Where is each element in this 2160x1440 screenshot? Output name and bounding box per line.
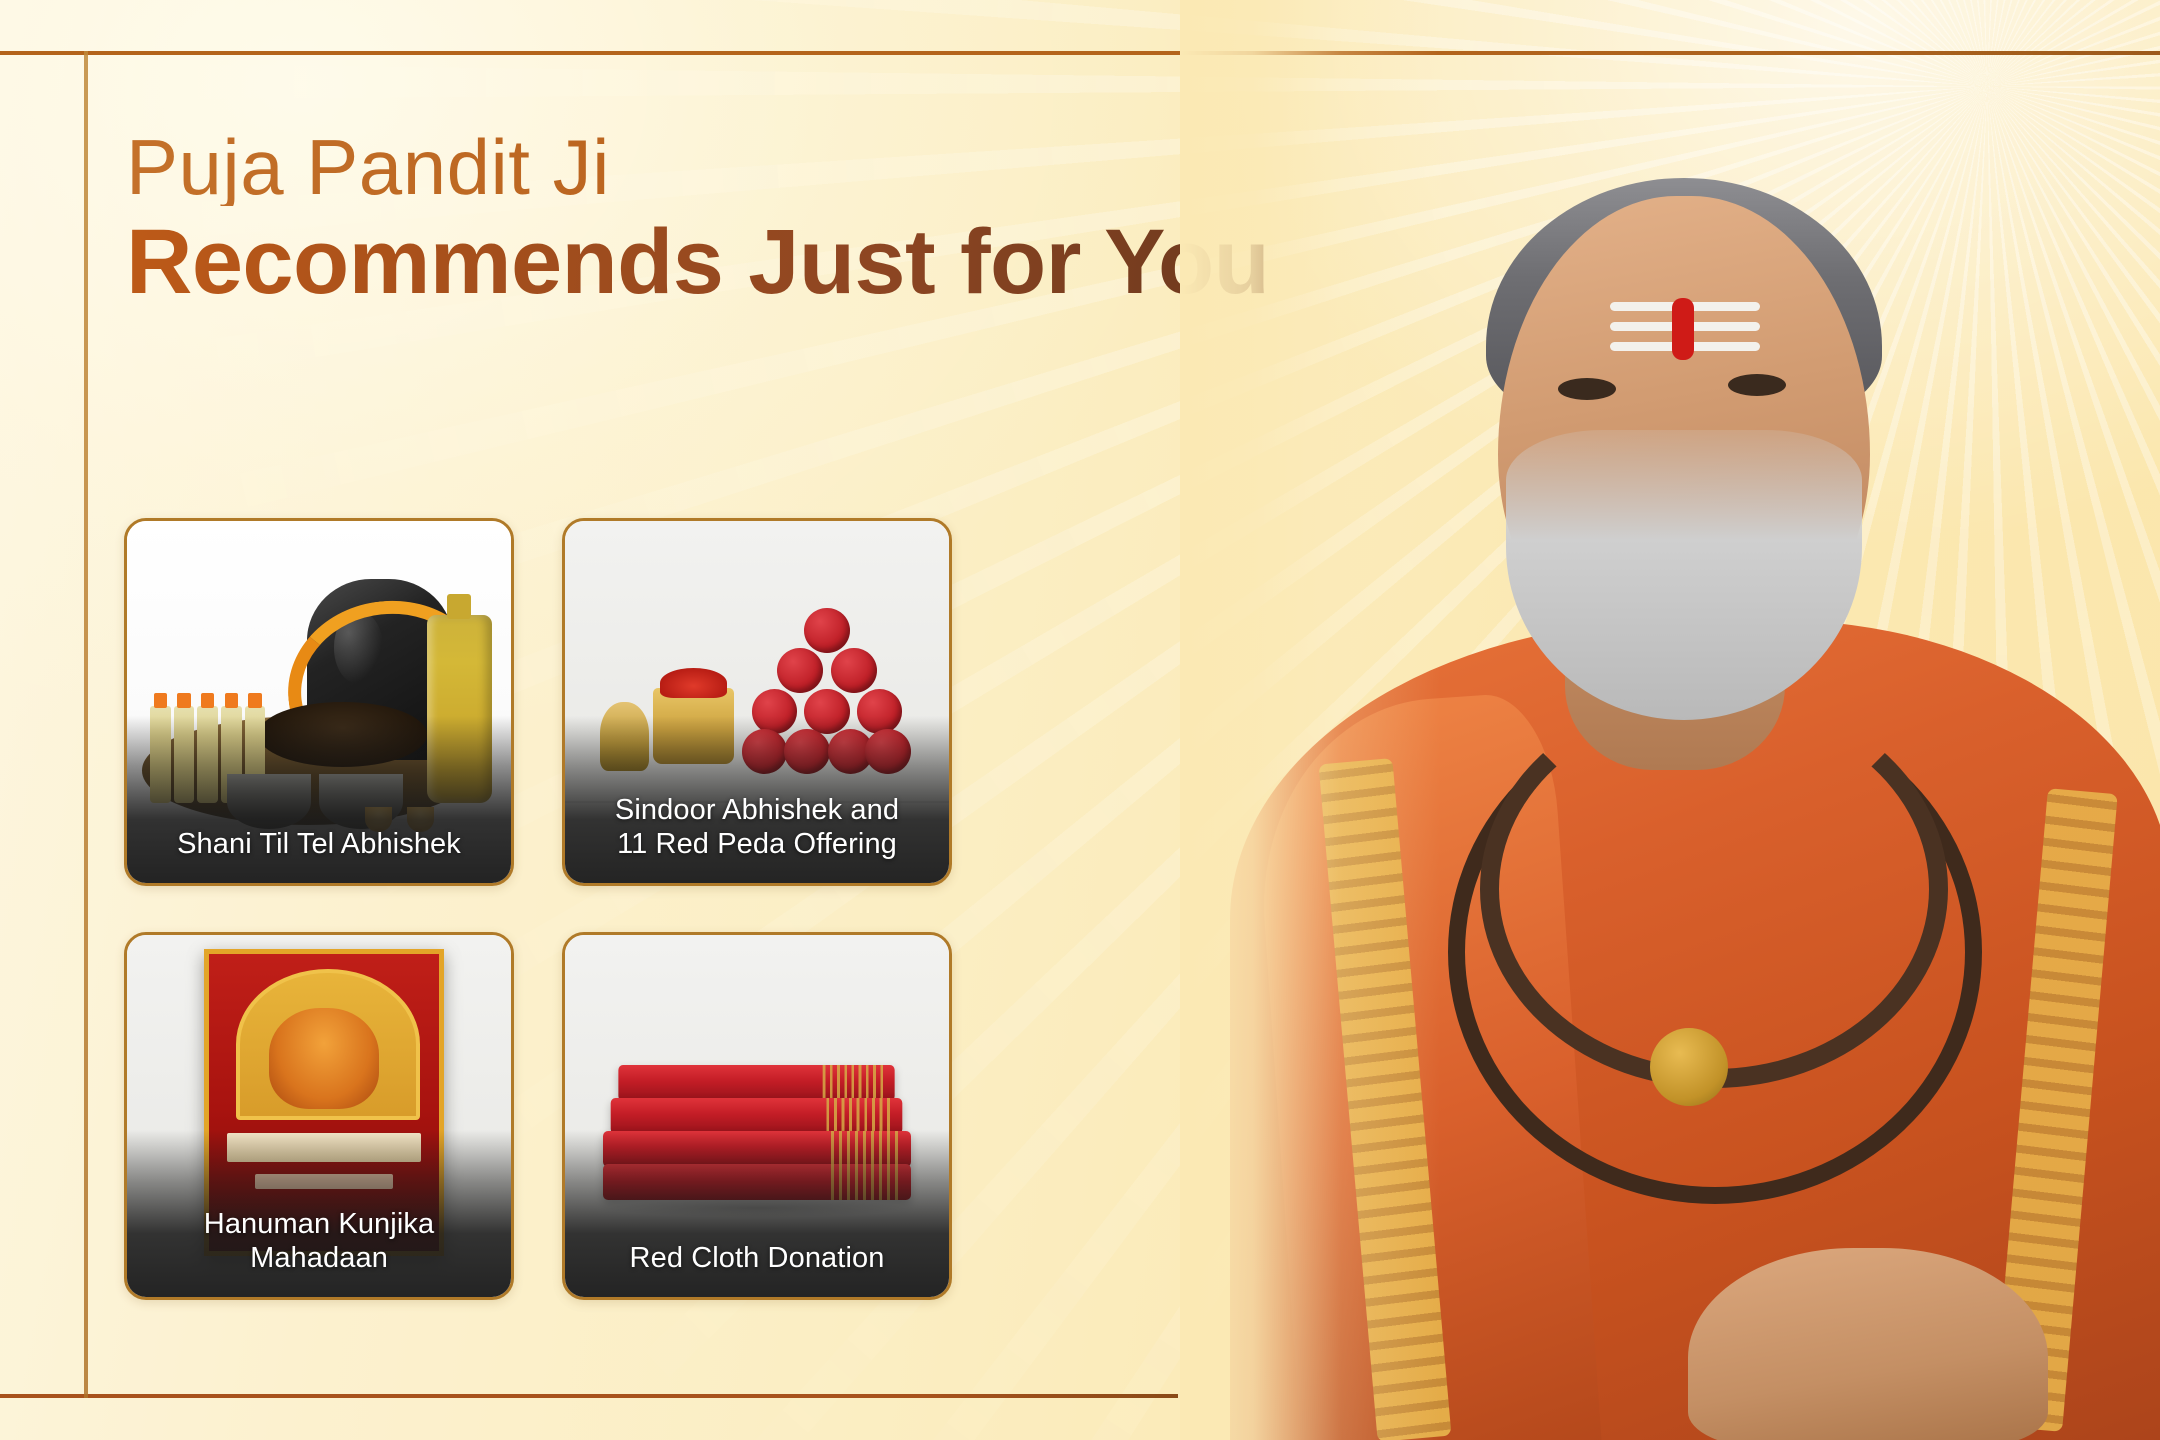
recommendation-card-sindoor-abhishek-11-red-peda[interactable]: Sindoor Abhishek and 11 Red Peda Offerin…: [562, 518, 952, 886]
pandit-bottom-fade: [1180, 1320, 2160, 1440]
pandit-rudraksha-mala-short: [1480, 690, 1948, 1088]
recommendation-card-hanuman-kunjika-mahadaan[interactable]: Hanuman Kunjika Mahadaan: [124, 932, 514, 1300]
pandit-tilak: [1610, 296, 1760, 364]
card-caption-line-2: Mahadaan: [141, 1241, 497, 1275]
card-caption-hanuman-kunjika-mahadaan: Hanuman Kunjika Mahadaan: [127, 1207, 511, 1297]
pandit-eye-right: [1728, 374, 1786, 396]
card-caption-sindoor-abhishek-11-red-peda: Sindoor Abhishek and 11 Red Peda Offerin…: [565, 793, 949, 883]
recommendation-card-grid: Shani Til Tel Abhishek Sindoor Abhishek …: [124, 518, 952, 1300]
card-caption-line-2: 11 Red Peda Offering: [579, 827, 935, 861]
pandit-eye-left: [1558, 378, 1616, 400]
recommendation-card-red-cloth-donation[interactable]: Red Cloth Donation: [562, 932, 952, 1300]
card-caption-shani-til-tel-abhishek: Shani Til Tel Abhishek: [127, 827, 511, 883]
pandit-mala-pendant: [1650, 1028, 1728, 1106]
card-caption-line-1: Hanuman Kunjika: [141, 1207, 497, 1241]
pandit-left-fade: [1180, 0, 1440, 1440]
promo-banner: Puja Pandit Ji Recommends Just for You S…: [0, 0, 2160, 1440]
bottom-divider-rule: [0, 1394, 1178, 1398]
recommendation-card-shani-til-tel-abhishek[interactable]: Shani Til Tel Abhishek: [124, 518, 514, 886]
left-vertical-rule: [84, 51, 88, 1398]
card-caption-red-cloth-donation: Red Cloth Donation: [565, 1241, 949, 1297]
pandit-portrait: [1180, 0, 2160, 1440]
card-caption-line-1: Sindoor Abhishek and: [579, 793, 935, 827]
